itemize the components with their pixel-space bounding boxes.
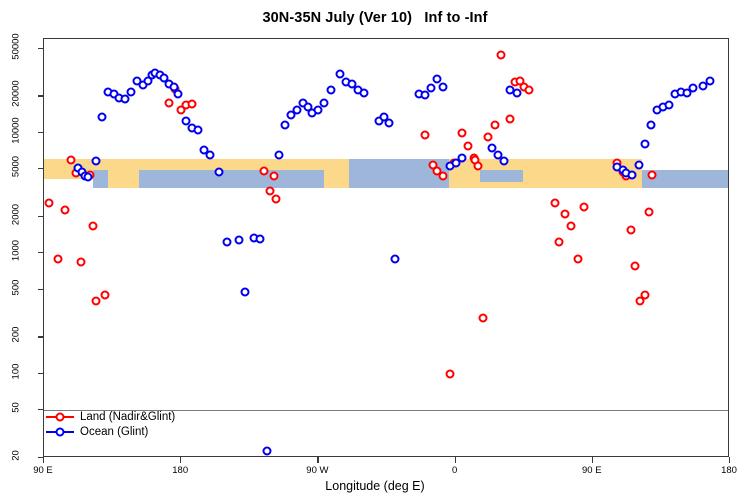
data-point-land bbox=[626, 226, 635, 235]
data-point-ocean bbox=[222, 237, 231, 246]
data-point-land bbox=[491, 121, 500, 130]
data-point-land bbox=[474, 161, 483, 170]
data-point-ocean bbox=[500, 157, 509, 166]
data-point-ocean bbox=[120, 95, 129, 104]
legend-symbol-land bbox=[45, 410, 75, 424]
x-tick-label: 180 bbox=[721, 465, 737, 476]
data-point-land bbox=[187, 100, 196, 109]
x-axis-label: Longitude (deg E) bbox=[0, 479, 750, 493]
x-tick-mark bbox=[43, 457, 44, 463]
y-tick-label: 10000 bbox=[11, 113, 22, 147]
data-point-ocean bbox=[206, 151, 215, 160]
data-point-land bbox=[88, 221, 97, 230]
data-point-ocean bbox=[646, 121, 655, 130]
y-tick-mark bbox=[38, 289, 44, 290]
y-tick-mark bbox=[38, 132, 44, 133]
data-point-ocean bbox=[390, 254, 399, 263]
data-point-ocean bbox=[360, 88, 369, 97]
y-tick-label: 2000 bbox=[11, 197, 22, 231]
y-tick-mark bbox=[38, 373, 44, 374]
chart-legend: Land (Nadir&Glint)Ocean (Glint) bbox=[45, 409, 175, 439]
data-point-ocean bbox=[84, 172, 93, 181]
land-coverage-band bbox=[108, 159, 138, 188]
data-point-ocean bbox=[427, 84, 436, 93]
data-point-land bbox=[61, 205, 70, 214]
y-tick-label: 1000 bbox=[11, 234, 22, 268]
data-point-ocean bbox=[126, 87, 135, 96]
data-point-ocean bbox=[640, 140, 649, 149]
data-point-land bbox=[445, 369, 454, 378]
data-point-ocean bbox=[91, 157, 100, 166]
data-point-land bbox=[648, 170, 657, 179]
data-point-land bbox=[497, 51, 506, 60]
data-point-ocean bbox=[628, 170, 637, 179]
data-point-land bbox=[579, 203, 588, 212]
data-point-land bbox=[91, 297, 100, 306]
data-point-land bbox=[479, 314, 488, 323]
chart-figure: 30N-35N July (Ver 10) Inf to -Inf 205010… bbox=[0, 0, 750, 500]
legend-item-ocean[interactable]: Ocean (Glint) bbox=[45, 424, 175, 439]
data-point-ocean bbox=[326, 86, 335, 95]
y-tick-mark bbox=[38, 95, 44, 96]
data-point-land bbox=[567, 221, 576, 230]
x-tick-label: 0 bbox=[452, 465, 457, 476]
data-point-land bbox=[573, 254, 582, 263]
data-point-land bbox=[259, 167, 268, 176]
chart-title: 30N-35N July (Ver 10) Inf to -Inf bbox=[0, 10, 750, 26]
data-point-land bbox=[271, 195, 280, 204]
y-tick-mark bbox=[38, 409, 44, 410]
y-tick-label: 200 bbox=[11, 318, 22, 352]
data-point-ocean bbox=[439, 82, 448, 91]
data-point-land bbox=[100, 291, 109, 300]
x-tick-label: 90 E bbox=[582, 465, 602, 476]
y-tick-mark bbox=[38, 216, 44, 217]
data-point-land bbox=[631, 262, 640, 271]
legend-marker-circle-icon bbox=[56, 412, 65, 421]
y-tick-mark bbox=[38, 252, 44, 253]
data-point-ocean bbox=[512, 88, 521, 97]
legend-item-land[interactable]: Land (Nadir&Glint) bbox=[45, 409, 175, 424]
data-point-ocean bbox=[335, 69, 344, 78]
data-point-land bbox=[645, 208, 654, 217]
x-tick-label: 90 E bbox=[33, 465, 53, 476]
data-point-land bbox=[76, 257, 85, 266]
data-point-land bbox=[439, 171, 448, 180]
y-tick-label: 5000 bbox=[11, 150, 22, 184]
data-point-land bbox=[524, 86, 533, 95]
data-point-land bbox=[506, 115, 515, 124]
data-point-land bbox=[640, 291, 649, 300]
data-point-ocean bbox=[384, 119, 393, 128]
data-point-ocean bbox=[689, 84, 698, 93]
legend-marker-circle-icon bbox=[56, 427, 65, 436]
legend-label: Ocean (Glint) bbox=[80, 426, 148, 438]
data-point-land bbox=[265, 186, 274, 195]
x-tick-mark bbox=[455, 457, 456, 463]
data-point-ocean bbox=[634, 161, 643, 170]
y-tick-label: 100 bbox=[11, 354, 22, 388]
data-point-ocean bbox=[241, 287, 250, 296]
y-tick-label: 500 bbox=[11, 270, 22, 304]
data-point-land bbox=[165, 99, 174, 108]
y-tick-label: 20000 bbox=[11, 77, 22, 111]
data-point-ocean bbox=[665, 100, 674, 109]
x-tick-mark bbox=[592, 457, 593, 463]
y-tick-mark bbox=[38, 168, 44, 169]
data-point-ocean bbox=[97, 113, 106, 122]
y-tick-label: 20 bbox=[11, 439, 22, 473]
data-point-ocean bbox=[320, 99, 329, 108]
data-point-ocean bbox=[256, 234, 265, 243]
data-point-land bbox=[421, 131, 430, 140]
data-point-ocean bbox=[215, 168, 224, 177]
data-point-land bbox=[270, 172, 279, 181]
data-point-land bbox=[483, 132, 492, 141]
y-tick-label: 50000 bbox=[11, 29, 22, 63]
y-tick-label: 50 bbox=[11, 391, 22, 425]
data-point-ocean bbox=[706, 76, 715, 85]
plot-area bbox=[43, 38, 729, 457]
data-point-ocean bbox=[262, 446, 271, 455]
x-tick-label: 90 W bbox=[306, 465, 328, 476]
data-point-ocean bbox=[457, 153, 466, 162]
data-point-land bbox=[457, 128, 466, 137]
data-point-land bbox=[53, 254, 62, 263]
x-tick-mark bbox=[317, 457, 318, 463]
data-point-ocean bbox=[174, 89, 183, 98]
data-point-land bbox=[44, 199, 53, 208]
data-point-ocean bbox=[235, 235, 244, 244]
data-point-land bbox=[463, 142, 472, 151]
x-tick-mark bbox=[180, 457, 181, 463]
ocean-coverage-band bbox=[480, 170, 523, 182]
data-point-ocean bbox=[274, 150, 283, 159]
y-tick-mark bbox=[38, 48, 44, 49]
x-tick-mark bbox=[729, 457, 730, 463]
data-point-land bbox=[561, 210, 570, 219]
x-tick-label: 180 bbox=[172, 465, 188, 476]
data-point-land bbox=[550, 199, 559, 208]
legend-symbol-ocean bbox=[45, 425, 75, 439]
data-point-ocean bbox=[280, 121, 289, 130]
y-tick-mark bbox=[38, 336, 44, 337]
data-point-ocean bbox=[193, 126, 202, 135]
legend-label: Land (Nadir&Glint) bbox=[80, 411, 175, 423]
data-point-land bbox=[555, 237, 564, 246]
